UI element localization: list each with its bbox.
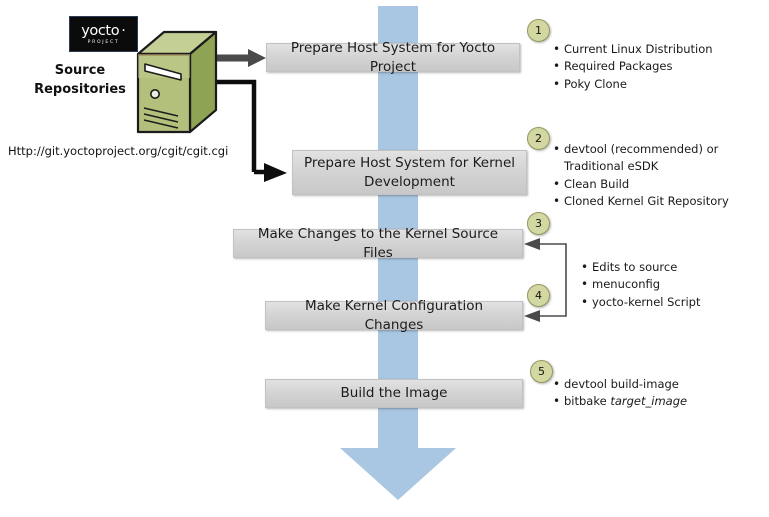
step-box-2-label: Prepare Host System for Kernel Developme… <box>304 154 515 190</box>
step-2-bullets: devtool (recommended) or Traditional eSD… <box>553 141 767 211</box>
list-item: menuconfig <box>581 276 767 293</box>
step-5-bullet-1-text: devtool build-image <box>564 377 679 391</box>
list-item: devtool build-image <box>553 376 767 393</box>
step-badge-4: 4 <box>527 284 550 307</box>
list-item: Clean Build <box>553 176 767 193</box>
list-item: Current Linux Distribution <box>553 41 767 58</box>
step-badge-5-number: 5 <box>538 365 545 378</box>
step-box-5[interactable]: Build the Image <box>265 379 523 408</box>
step-box-5-label: Build the Image <box>341 384 448 402</box>
logo-wordmark: yocto <box>81 24 119 39</box>
step-badge-1: 1 <box>527 19 550 42</box>
step-box-1[interactable]: Prepare Host System for Yocto Project <box>266 43 520 72</box>
list-item: Poky Clone <box>553 76 767 93</box>
list-item: Required Packages <box>553 58 767 75</box>
list-item: bitbake target_image <box>553 393 767 410</box>
server-tower-icon <box>134 28 220 140</box>
step-box-4[interactable]: Make Kernel Configuration Changes <box>265 301 523 330</box>
step-badge-2: 2 <box>527 127 550 150</box>
source-repositories-line1: Source <box>20 62 140 81</box>
step-badge-5: 5 <box>530 360 553 383</box>
step-box-1-label: Prepare Host System for Yocto Project <box>275 39 511 75</box>
step-box-2[interactable]: Prepare Host System for Kernel Developme… <box>292 150 527 195</box>
list-item: Cloned Kernel Git Repository <box>553 193 767 210</box>
step-5-bullet-2-text: bitbake <box>564 394 610 408</box>
step-badge-1-number: 1 <box>535 24 542 37</box>
step-badge-2-number: 2 <box>535 132 542 145</box>
source-repositories-label: Source Repositories <box>20 62 140 100</box>
step-5-bullets: devtool build-image bitbake target_image <box>553 376 767 411</box>
step-box-3[interactable]: Make Changes to the Kernel Source Files <box>233 229 523 258</box>
list-item: Edits to source <box>581 259 767 276</box>
diagram-canvas: yocto · PROJECT Source Repositories Http… <box>0 0 769 517</box>
logo-subtitle: PROJECT <box>88 41 120 46</box>
step-badge-3-number: 3 <box>535 217 542 230</box>
step-box-3-label: Make Changes to the Kernel Source Files <box>242 225 514 261</box>
step-1-bullets: Current Linux Distribution Required Pack… <box>553 41 767 93</box>
step-box-4-label: Make Kernel Configuration Changes <box>274 297 514 333</box>
steps-34-shared-bullets: Edits to source menuconfig yocto-kernel … <box>581 259 767 311</box>
logo-dot: · <box>121 23 126 39</box>
list-item: yocto-kernel Script <box>581 294 767 311</box>
yocto-project-logo: yocto · PROJECT <box>69 16 138 52</box>
flow-arrow-head <box>340 448 456 500</box>
step-5-bullet-2-italic: target_image <box>610 394 687 408</box>
source-repositories-url: Http://git.yoctoproject.org/cgit/cgit.cg… <box>8 144 228 158</box>
list-item: devtool (recommended) or Traditional eSD… <box>553 141 767 176</box>
step-badge-4-number: 4 <box>535 289 542 302</box>
step-badge-3: 3 <box>527 212 550 235</box>
source-repositories-line2: Repositories <box>20 81 140 100</box>
